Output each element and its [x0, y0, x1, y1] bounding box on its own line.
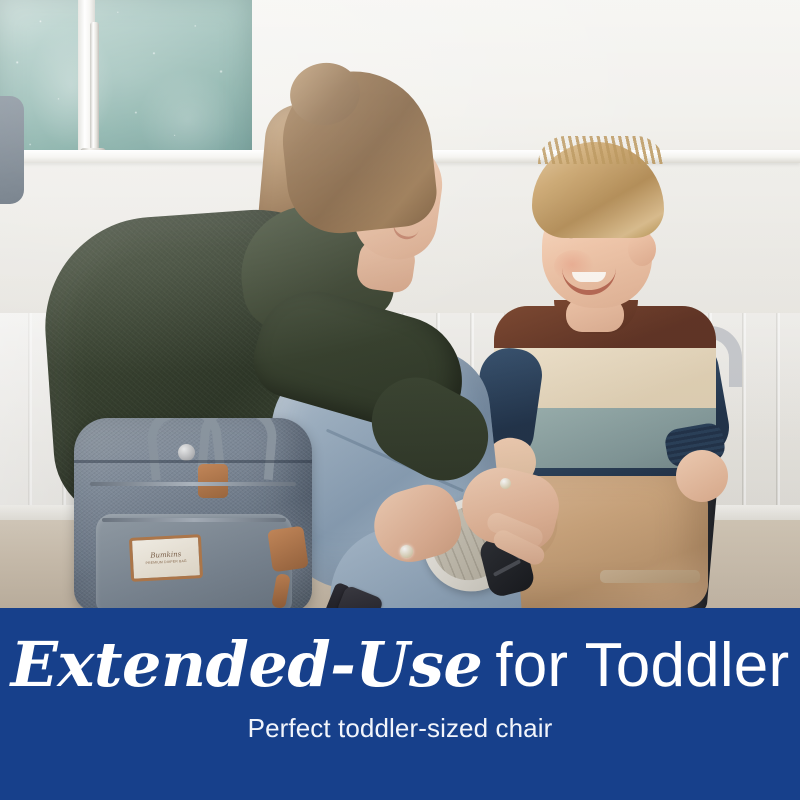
marketing-banner: Extended-Use for Toddler Perfect toddler…: [0, 608, 800, 800]
diaper-bag-leather-patch: [267, 526, 308, 573]
toddler-pants-fold: [600, 570, 700, 583]
diaper-bag: Bumkins PREMIUM DIAPER BAG: [74, 418, 312, 612]
headline-rest: for Toddler: [495, 635, 789, 697]
diaper-bag-leather-tab: [198, 464, 228, 498]
headline-emphasis: Extended-Use: [11, 634, 483, 696]
diaper-bag-pocket-zipper: [102, 518, 286, 522]
mother-ring-2: [500, 478, 511, 489]
mother-ring: [400, 545, 413, 558]
diaper-bag-seam: [74, 460, 312, 463]
product-marketing-image: Bumkins PREMIUM DIAPER BAG Extended-Use …: [0, 0, 800, 800]
banner-subheadline: Perfect toddler-sized chair: [248, 713, 553, 744]
diaper-bag-brand-label: Bumkins PREMIUM DIAPER BAG: [129, 534, 203, 582]
toddler-teeth: [572, 272, 606, 282]
diaper-bag-handle-snap: [178, 444, 195, 461]
diaper-bag-side-pocket: [0, 96, 24, 204]
toddler-hair-spikes: [538, 136, 664, 164]
banner-headline: Extended-Use for Toddler: [11, 634, 790, 697]
diaper-bag-main-zipper: [90, 482, 296, 486]
lifestyle-photo: Bumkins PREMIUM DIAPER BAG: [0, 0, 800, 612]
